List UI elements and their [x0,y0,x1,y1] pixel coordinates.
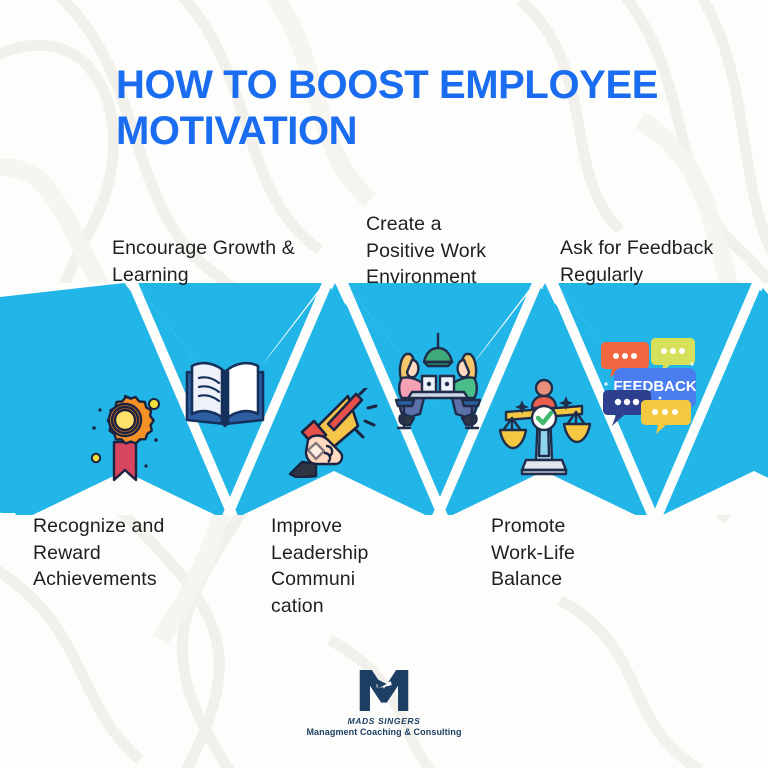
logo-tagline: Managment Coaching & Consulting [0,727,768,737]
team-meeting-icon [390,332,486,438]
label-line: Work-Life [491,540,651,567]
page-title-line-2: MOTIVATION [116,108,716,154]
label-line: Ask for Feedback [560,235,760,262]
megaphone-icon [286,388,378,478]
label-line: Reward [33,540,233,567]
label-line: Positive Work [366,238,551,265]
label-line: Achievements [33,566,233,593]
step-label-improve-leadership: Improve Leadership Communi cation [271,513,421,619]
label-line: Encourage Growth & [112,235,337,262]
logo-company-name: MADS SINGERS [0,716,768,726]
feedback-bubbles-icon: FEEDBACK [600,334,698,434]
step-label-positive-environment: Create a Positive Work Environment [366,211,551,291]
step-label-work-life-balance: Promote Work-Life Balance [491,513,651,593]
open-book-icon [183,356,267,428]
label-line: Improve [271,513,421,540]
label-line: Create a [366,211,551,238]
page-title-line-1: HOW TO BOOST EMPLOYEE [116,62,716,108]
label-line: Communi [271,566,421,593]
label-line: Promote [491,513,651,540]
label-line: cation [271,593,421,620]
label-line: Regularly [560,262,760,289]
label-line: Learning [112,262,337,289]
label-line: Balance [491,566,651,593]
step-label-ask-feedback: Ask for Feedback Regularly [560,235,760,288]
brand-logo: MADS SINGERS Managment Coaching & Consul… [0,668,768,737]
step-label-encourage-growth: Encourage Growth & Learning [112,235,337,288]
balance-scale-icon [496,376,592,476]
label-line: Recognize and [33,513,233,540]
label-line: Leadership [271,540,421,567]
page-title: HOW TO BOOST EMPLOYEE MOTIVATION [116,62,716,155]
award-ribbon-icon [84,384,168,484]
label-line: Environment [366,264,551,291]
step-label-recognize-reward: Recognize and Reward Achievements [33,513,233,593]
logo-mark-m-icon [356,668,412,713]
infographic-canvas: HOW TO BOOST EMPLOYEE MOTIVATION [0,0,768,768]
